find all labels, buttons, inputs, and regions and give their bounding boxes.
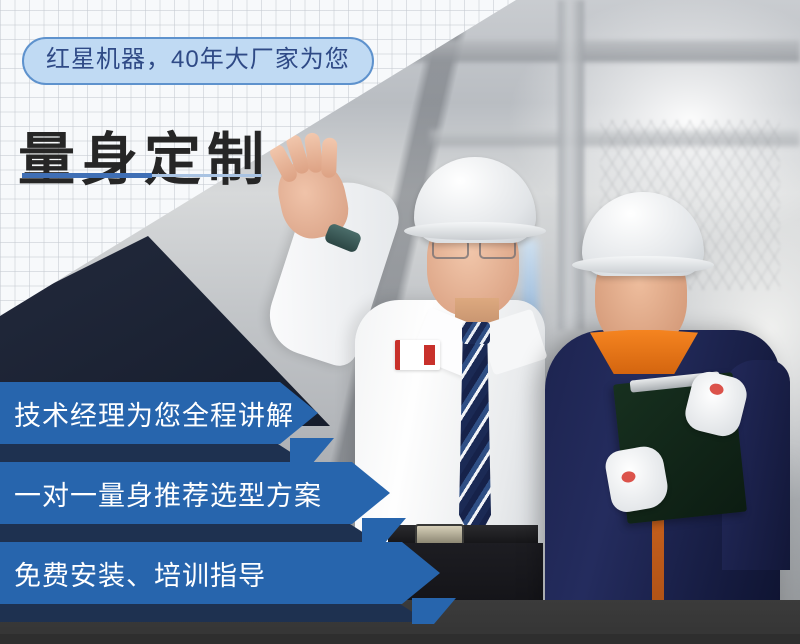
marketing-banner: 红星机器，40年大厂家为您 量身定制 技术经理为您全程讲解 一对一量身推荐选型方… [0, 0, 800, 644]
support-column-icon [558, 0, 584, 330]
hard-hat-brim-icon [404, 222, 546, 240]
finger-icon [321, 137, 337, 177]
feature-banner-shadow [0, 524, 378, 542]
overhead-beam-icon [400, 40, 800, 62]
feature-banner-1: 技术经理为您全程讲解 [0, 382, 318, 444]
id-badge-icon [395, 340, 440, 370]
feature-banner-shadow [0, 604, 428, 622]
feature-banner-2: 一对一量身推荐选型方案 [0, 462, 390, 524]
striped-necktie-icon [459, 330, 491, 545]
feature-banner-2-label: 一对一量身推荐选型方案 [14, 474, 322, 513]
glove-logo-icon [708, 382, 724, 396]
feature-banner-3-label: 免费安装、培训指导 [14, 554, 266, 593]
hard-hat-brim-icon [572, 256, 714, 274]
page-title: 量身定制 [18, 130, 270, 192]
title-underline-light [152, 174, 262, 177]
tagline-pill: 红星机器，40年大厂家为您 [22, 37, 374, 85]
necktie-knot-icon [462, 322, 490, 344]
bottom-plate-edge [0, 634, 800, 644]
glove-logo-icon [621, 470, 637, 483]
title-underline [22, 173, 152, 178]
feature-banner-shadow [0, 444, 306, 462]
feature-banner-3: 免费安装、培训指导 [0, 542, 440, 604]
feature-banner-1-label: 技术经理为您全程讲解 [14, 394, 294, 433]
